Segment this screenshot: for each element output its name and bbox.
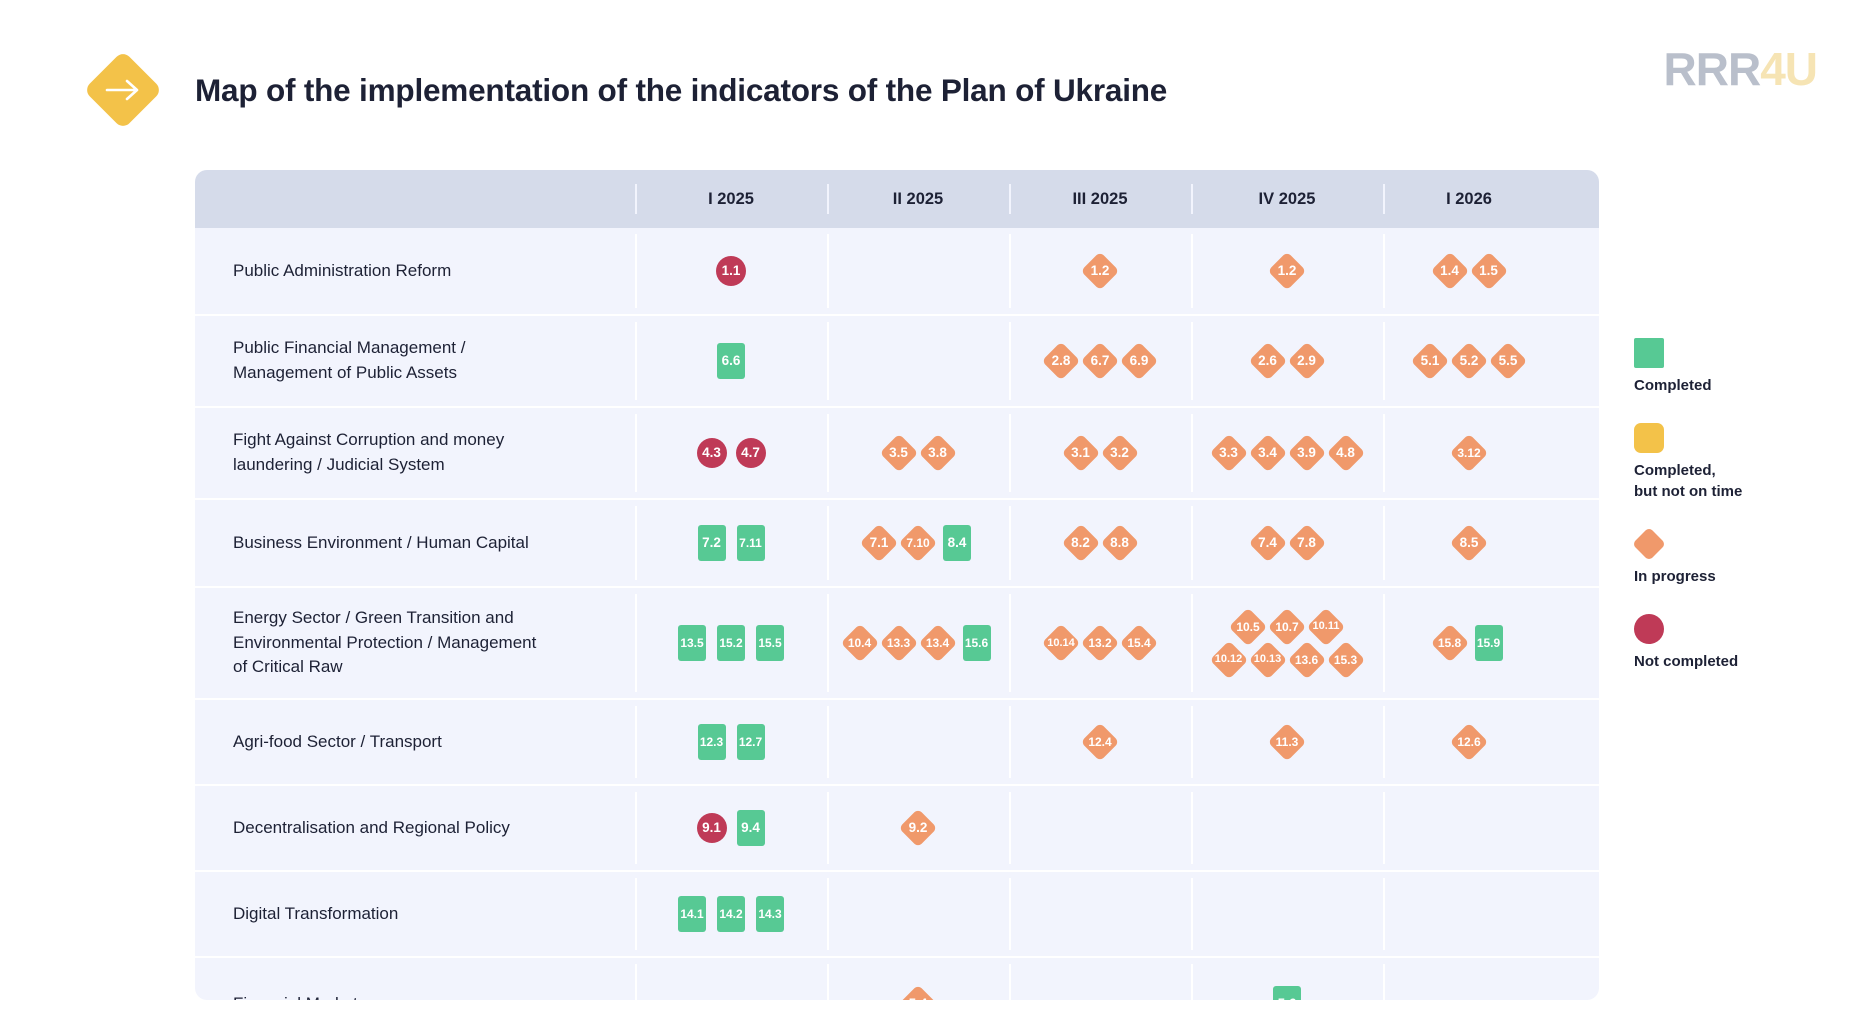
table-cell: 3.33.43.94.8 [1191,408,1383,498]
table-cell [1383,786,1555,870]
table-row: Agri-food Sector / Transport12.312.712.4… [195,700,1599,786]
legend-swatch-shape [1634,614,1664,644]
indicator-badge-in-progress[interactable]: 7.8 [1289,525,1325,561]
table-cell: 13.515.215.5 [635,588,827,698]
indicator-badge-in-progress[interactable]: 5.4 [900,986,936,1000]
indicator-badge-label: 13.6 [1295,654,1318,666]
indicator-badge-label: 8.4 [948,536,967,550]
arrow-right-icon [84,51,162,129]
indicator-badge-in-progress[interactable]: 2.6 [1250,343,1286,379]
indicator-badge-in-progress[interactable]: 5.5 [1490,343,1526,379]
indicator-badge-label: 6.6 [722,354,741,368]
table-row: Business Environment / Human Capital7.27… [195,500,1599,588]
indicator-badge-completed[interactable]: 14.2 [713,896,749,932]
badge-group: 10.1413.215.4 [1043,625,1157,661]
indicator-badge-label: 2.9 [1297,354,1316,368]
badge-group: 1.2 [1269,253,1305,289]
badge-group: 5.6 [1269,986,1305,1000]
indicator-badge-label: 7.11 [739,537,762,549]
column-header-i-2025: I 2025 [635,170,827,228]
indicator-badge-in-progress[interactable]: 13.6 [1289,642,1325,678]
indicator-badge-in-progress[interactable]: 3.4 [1250,435,1286,471]
indicator-badge-completed[interactable]: 14.1 [674,896,710,932]
indicator-badge-in-progress[interactable]: 10.5 [1230,609,1266,645]
table-row: Fight Against Corruption and moneylaunde… [195,408,1599,500]
indicator-badge-in-progress[interactable]: 10.7 [1269,609,1305,645]
badge-group: 7.47.8 [1250,525,1325,561]
table-cell [827,316,1009,406]
row-label: Public Administration Reform [233,228,623,314]
badge-group: 3.33.43.94.8 [1211,435,1364,471]
table-cell: 10.510.710.1110.1210.1313.615.3 [1191,588,1383,698]
badge-group: 12.312.7 [694,724,769,760]
badge-group: 8.5 [1451,525,1487,561]
indicator-badge-completed[interactable]: 8.4 [939,525,975,561]
indicator-badge-in-progress[interactable]: 3.1 [1063,435,1099,471]
badge-group: 1.2 [1082,253,1118,289]
table-cell: 6.6 [635,316,827,406]
table-cell: 12.4 [1009,700,1191,784]
indicator-badge-label: 11.3 [1276,736,1299,748]
indicator-matrix-table: I 2025II 2025III 2025IV 2025I 2026 Publi… [195,170,1599,1000]
indicator-badge-label: 3.2 [1110,446,1129,460]
table-cell [1383,872,1555,956]
table-row: Digital Transformation14.114.214.3 [195,872,1599,958]
indicator-badge-label: 3.8 [928,446,947,460]
indicator-badge-label: 12.4 [1088,736,1111,748]
row-label: Public Financial Management /Management … [233,316,623,406]
indicator-badge-label: 10.5 [1236,621,1259,633]
indicator-badge-in-progress[interactable]: 7.4 [1250,525,1286,561]
indicator-badge-label: 8.5 [1460,536,1479,550]
legend-swatch-completed-icon [1634,338,1664,368]
column-header-iv-2025: IV 2025 [1191,170,1383,228]
table-cell [1191,786,1383,870]
indicator-badge-label: 7.10 [906,537,929,549]
badge-group: 1.41.5 [1432,253,1507,289]
indicator-badge-label: 3.12 [1457,447,1480,459]
indicator-badge-label: 15.3 [1334,654,1357,666]
indicator-badge-label: 1.1 [722,264,741,278]
badge-group: 2.62.9 [1250,343,1325,379]
table-cell: 8.5 [1383,500,1555,586]
indicator-badge-label: 3.3 [1219,446,1238,460]
indicator-badge-in-progress[interactable]: 6.9 [1121,343,1157,379]
row-label: Agri-food Sector / Transport [233,700,623,784]
row-label: Financial Markets [233,958,623,1000]
indicator-badge-in-progress[interactable]: 8.8 [1102,525,1138,561]
table-header-row: I 2025II 2025III 2025IV 2025I 2026 [195,170,1599,228]
badge-group: 10.1210.1313.615.3 [1211,642,1364,678]
legend-item-completed-late: Completed, but not on time [1634,423,1834,502]
indicator-badge-label: 9.2 [909,821,928,835]
column-header-iii-2025: III 2025 [1009,170,1191,228]
table-cell: 7.17.108.4 [827,500,1009,586]
indicator-badge-in-progress[interactable]: 2.9 [1289,343,1325,379]
brand-logo-primary: RRR [1664,43,1761,95]
table-row: Financial Markets5.45.6 [195,958,1599,1000]
indicator-badge-label: 3.4 [1258,446,1277,460]
indicator-badge-in-progress[interactable]: 7.10 [900,525,936,561]
row-label: Fight Against Corruption and moneylaunde… [233,408,623,498]
legend-item-not-completed: Not completed [1634,614,1834,672]
table-cell [635,958,827,1000]
row-label: Energy Sector / Green Transition andEnvi… [233,588,623,698]
table-cell [1009,872,1191,956]
arrow-glyph [103,74,143,106]
indicator-badge-in-progress[interactable]: 1.4 [1432,253,1468,289]
table-cell [1191,872,1383,956]
indicator-badge-label: 13.3 [887,637,910,649]
indicator-badge-in-progress[interactable]: 13.4 [920,625,956,661]
table-cell: 5.6 [1191,958,1383,1000]
badge-group: 3.12 [1451,435,1487,471]
indicator-badge-in-progress[interactable]: 5.1 [1412,343,1448,379]
indicator-badge-completed[interactable]: 7.11 [733,525,769,561]
indicator-badge-label: 9.1 [702,821,721,835]
column-header-i-2026: I 2026 [1383,170,1555,228]
table-cell [1009,958,1191,1000]
indicator-badge-label: 7.8 [1297,536,1316,550]
indicator-badge-in-progress[interactable]: 12.6 [1451,724,1487,760]
indicator-badge-label: 5.1 [1421,354,1440,368]
indicator-badge-label: 10.13 [1254,654,1282,665]
indicator-badge-completed[interactable]: 15.5 [752,625,788,661]
indicator-badge-label: 8.8 [1110,536,1129,550]
table-body: Public Administration Reform1.11.21.21.4… [195,228,1599,1000]
table-cell: 15.815.9 [1383,588,1555,698]
badge-group: 7.17.108.4 [861,525,975,561]
indicator-badge-completed[interactable]: 15.6 [959,625,995,661]
table-cell: 1.1 [635,228,827,314]
indicator-badge-label: 14.3 [758,908,781,920]
indicator-badge-label: 7.2 [702,536,721,550]
page-title: Map of the implementation of the indicat… [195,72,1167,109]
badge-group: 11.3 [1269,724,1305,760]
badge-group: 8.28.8 [1063,525,1138,561]
indicator-badge-label: 1.2 [1278,264,1297,278]
indicator-badge-label: 5.5 [1499,354,1518,368]
indicator-badge-in-progress[interactable]: 3.8 [920,435,956,471]
indicator-badge-completed[interactable]: 5.6 [1269,986,1305,1000]
indicator-badge-label: 13.4 [926,637,949,649]
table-cell: 7.47.8 [1191,500,1383,586]
indicator-badge-in-progress[interactable]: 1.2 [1082,253,1118,289]
badge-group: 1.1 [713,253,749,289]
indicator-badge-label: 4.8 [1336,446,1355,460]
table-cell: 1.41.5 [1383,228,1555,314]
badge-group: 3.53.8 [881,435,956,471]
indicator-badge-label: 14.1 [680,908,703,920]
indicator-badge-label: 13.2 [1088,637,1111,649]
indicator-badge-label: 10.7 [1275,621,1298,633]
table-cell [1009,786,1191,870]
table-cell: 3.12 [1383,408,1555,498]
row-label: Digital Transformation [233,872,623,956]
indicator-badge-in-progress[interactable]: 5.2 [1451,343,1487,379]
indicator-badge-completed[interactable]: 15.2 [713,625,749,661]
legend-swatch-not-completed-icon [1634,614,1664,644]
table-row: Public Administration Reform1.11.21.21.4… [195,228,1599,316]
indicator-badge-label: 10.12 [1215,654,1243,665]
indicator-badge-label: 7.1 [870,536,889,550]
indicator-badge-completed[interactable]: 6.6 [713,343,749,379]
indicator-badge-completed[interactable]: 13.5 [674,625,710,661]
table-cell: 3.53.8 [827,408,1009,498]
table-cell: 2.62.9 [1191,316,1383,406]
indicator-badge-in-progress[interactable]: 2.8 [1043,343,1079,379]
indicator-badge-in-progress[interactable]: 13.3 [881,625,917,661]
indicator-badge-in-progress[interactable]: 9.2 [900,810,936,846]
indicator-badge-label: 9.4 [741,821,760,835]
indicator-badge-label: 15.9 [1477,637,1500,649]
badge-group: 4.34.7 [694,435,769,471]
badge-group: 14.114.214.3 [674,896,788,932]
table-cell: 12.312.7 [635,700,827,784]
column-header-ii-2025: II 2025 [827,170,1009,228]
page-header: Map of the implementation of the indicat… [0,0,1852,160]
legend-label: In progress [1634,567,1834,587]
indicator-badge-in-progress[interactable]: 3.5 [881,435,917,471]
indicator-badge-in-progress[interactable]: 6.7 [1082,343,1118,379]
indicator-badge-in-progress[interactable]: 8.5 [1451,525,1487,561]
indicator-badge-label: 15.6 [965,637,988,649]
indicator-badge-label: 3.9 [1297,446,1316,460]
indicator-badge-not-completed[interactable]: 4.3 [694,435,730,471]
badge-group: 3.13.2 [1063,435,1138,471]
indicator-badge-in-progress[interactable]: 15.8 [1432,625,1468,661]
table-cell: 7.27.11 [635,500,827,586]
indicator-badge-in-progress[interactable]: 7.1 [861,525,897,561]
row-label: Decentralisation and Regional Policy [233,786,623,870]
indicator-badge-label: 1.4 [1440,264,1459,278]
indicator-badge-label: 4.7 [741,446,760,460]
indicator-badge-label: 14.2 [719,908,742,920]
badge-group: 7.27.11 [694,525,769,561]
table-cell: 3.13.2 [1009,408,1191,498]
indicator-badge-label: 6.7 [1091,354,1110,368]
indicator-badge-label: 15.4 [1127,637,1150,649]
badge-group: 2.86.76.9 [1043,343,1157,379]
table-row: Public Financial Management /Management … [195,316,1599,408]
indicator-badge-label: 7.4 [1258,536,1277,550]
table-cell [827,228,1009,314]
indicator-badge-in-progress[interactable]: 10.4 [842,625,878,661]
table-row: Energy Sector / Green Transition andEnvi… [195,588,1599,700]
legend-swatch-in-progress-icon [1634,529,1664,559]
brand-logo: RRR4U [1664,46,1817,92]
indicator-badge-in-progress[interactable]: 10.12 [1211,642,1247,678]
indicator-badge-label: 3.5 [889,446,908,460]
indicator-badge-label: 1.2 [1091,264,1110,278]
indicator-badge-label: 15.8 [1438,637,1461,649]
badge-group: 9.19.4 [694,810,769,846]
badge-group: 5.15.25.5 [1412,343,1526,379]
table-cell: 9.19.4 [635,786,827,870]
table-cell [827,872,1009,956]
table-cell: 9.2 [827,786,1009,870]
table-cell: 4.34.7 [635,408,827,498]
table-cell: 5.4 [827,958,1009,1000]
indicator-badge-label: 2.6 [1258,354,1277,368]
indicator-badge-completed[interactable]: 7.2 [694,525,730,561]
badge-group: 15.815.9 [1432,625,1507,661]
indicator-badge-label: 6.9 [1130,354,1149,368]
table-cell: 2.86.76.9 [1009,316,1191,406]
indicator-badge-label: 10.14 [1047,638,1075,649]
badge-group: 10.413.313.415.6 [842,625,995,661]
indicator-badge-in-progress[interactable]: 10.13 [1250,642,1286,678]
table-cell: 11.3 [1191,700,1383,784]
table-row: Decentralisation and Regional Policy9.19… [195,786,1599,872]
badge-group: 12.4 [1082,724,1118,760]
table-cell: 1.2 [1009,228,1191,314]
table-cell: 12.6 [1383,700,1555,784]
legend-swatch-shape [1634,423,1664,453]
indicator-badge-label: 4.3 [702,446,721,460]
indicator-badge-label: 13.5 [680,637,703,649]
indicator-badge-in-progress[interactable]: 3.2 [1102,435,1138,471]
indicator-badge-in-progress[interactable]: 10.11 [1308,609,1344,645]
legend-item-completed: Completed [1634,338,1834,396]
table-cell: 5.15.25.5 [1383,316,1555,406]
table-cell: 8.28.8 [1009,500,1191,586]
indicator-badge-label: 2.8 [1052,354,1071,368]
badge-group: 10.510.710.11 [1230,609,1344,645]
indicator-badge-not-completed[interactable]: 4.7 [733,435,769,471]
legend-swatch-shape [1632,527,1666,561]
indicator-badge-label: 5.4 [909,997,928,1000]
indicator-badge-in-progress[interactable]: 12.4 [1082,724,1118,760]
legend: CompletedCompleted, but not on timeIn pr… [1634,338,1834,699]
indicator-badge-label: 5.2 [1460,354,1479,368]
row-label: Business Environment / Human Capital [233,500,623,586]
table-cell: 1.2 [1191,228,1383,314]
table-cell [1383,958,1555,1000]
indicator-badge-in-progress[interactable]: 11.3 [1269,724,1305,760]
indicator-badge-completed[interactable]: 12.7 [733,724,769,760]
indicator-badge-label: 1.5 [1479,264,1498,278]
indicator-badge-label: 15.2 [719,637,742,649]
badge-group: 12.6 [1451,724,1487,760]
indicator-badge-in-progress[interactable]: 15.3 [1328,642,1364,678]
indicator-badge-label: 12.3 [700,736,723,748]
indicator-badge-completed[interactable]: 12.3 [694,724,730,760]
table-cell: 14.114.214.3 [635,872,827,956]
indicator-badge-label: 12.6 [1457,736,1480,748]
indicator-badge-label: 12.7 [739,736,762,748]
indicator-badge-not-completed[interactable]: 1.1 [713,253,749,289]
badge-group: 6.6 [713,343,749,379]
indicator-badge-completed[interactable]: 15.9 [1471,625,1507,661]
badge-group: 5.4 [900,986,936,1000]
indicator-badge-in-progress[interactable]: 3.12 [1451,435,1487,471]
table-cell: 10.413.313.415.6 [827,588,1009,698]
indicator-badge-label: 15.5 [758,637,781,649]
indicator-badge-label: 10.11 [1313,621,1340,632]
indicator-badge-label: 3.1 [1071,446,1090,460]
indicator-badge-label: 8.2 [1071,536,1090,550]
indicator-badge-in-progress[interactable]: 8.2 [1063,525,1099,561]
indicator-badge-completed[interactable]: 9.4 [733,810,769,846]
legend-swatch-shape [1634,338,1664,368]
indicator-badge-in-progress[interactable]: 13.2 [1082,625,1118,661]
indicator-badge-not-completed[interactable]: 9.1 [694,810,730,846]
indicator-badge-label: 10.4 [848,637,871,649]
indicator-badge-in-progress[interactable]: 15.4 [1121,625,1157,661]
legend-item-in-progress: In progress [1634,529,1834,587]
table-cell [827,700,1009,784]
legend-label: Completed, but not on time [1634,461,1834,502]
indicator-badge-in-progress[interactable]: 3.3 [1211,435,1247,471]
legend-swatch-completed-late-icon [1634,423,1664,453]
indicator-badge-in-progress[interactable]: 3.9 [1289,435,1325,471]
legend-label: Completed [1634,376,1834,396]
indicator-badge-completed[interactable]: 14.3 [752,896,788,932]
indicator-badge-in-progress[interactable]: 1.5 [1471,253,1507,289]
indicator-badge-in-progress[interactable]: 10.14 [1043,625,1079,661]
badge-group: 13.515.215.5 [674,625,788,661]
legend-label: Not completed [1634,652,1834,672]
badge-group: 9.2 [900,810,936,846]
brand-logo-accent: 4U [1760,43,1817,95]
indicator-badge-label: 5.6 [1278,997,1297,1000]
indicator-badge-in-progress[interactable]: 1.2 [1269,253,1305,289]
indicator-badge-in-progress[interactable]: 4.8 [1328,435,1364,471]
table-cell: 10.1413.215.4 [1009,588,1191,698]
